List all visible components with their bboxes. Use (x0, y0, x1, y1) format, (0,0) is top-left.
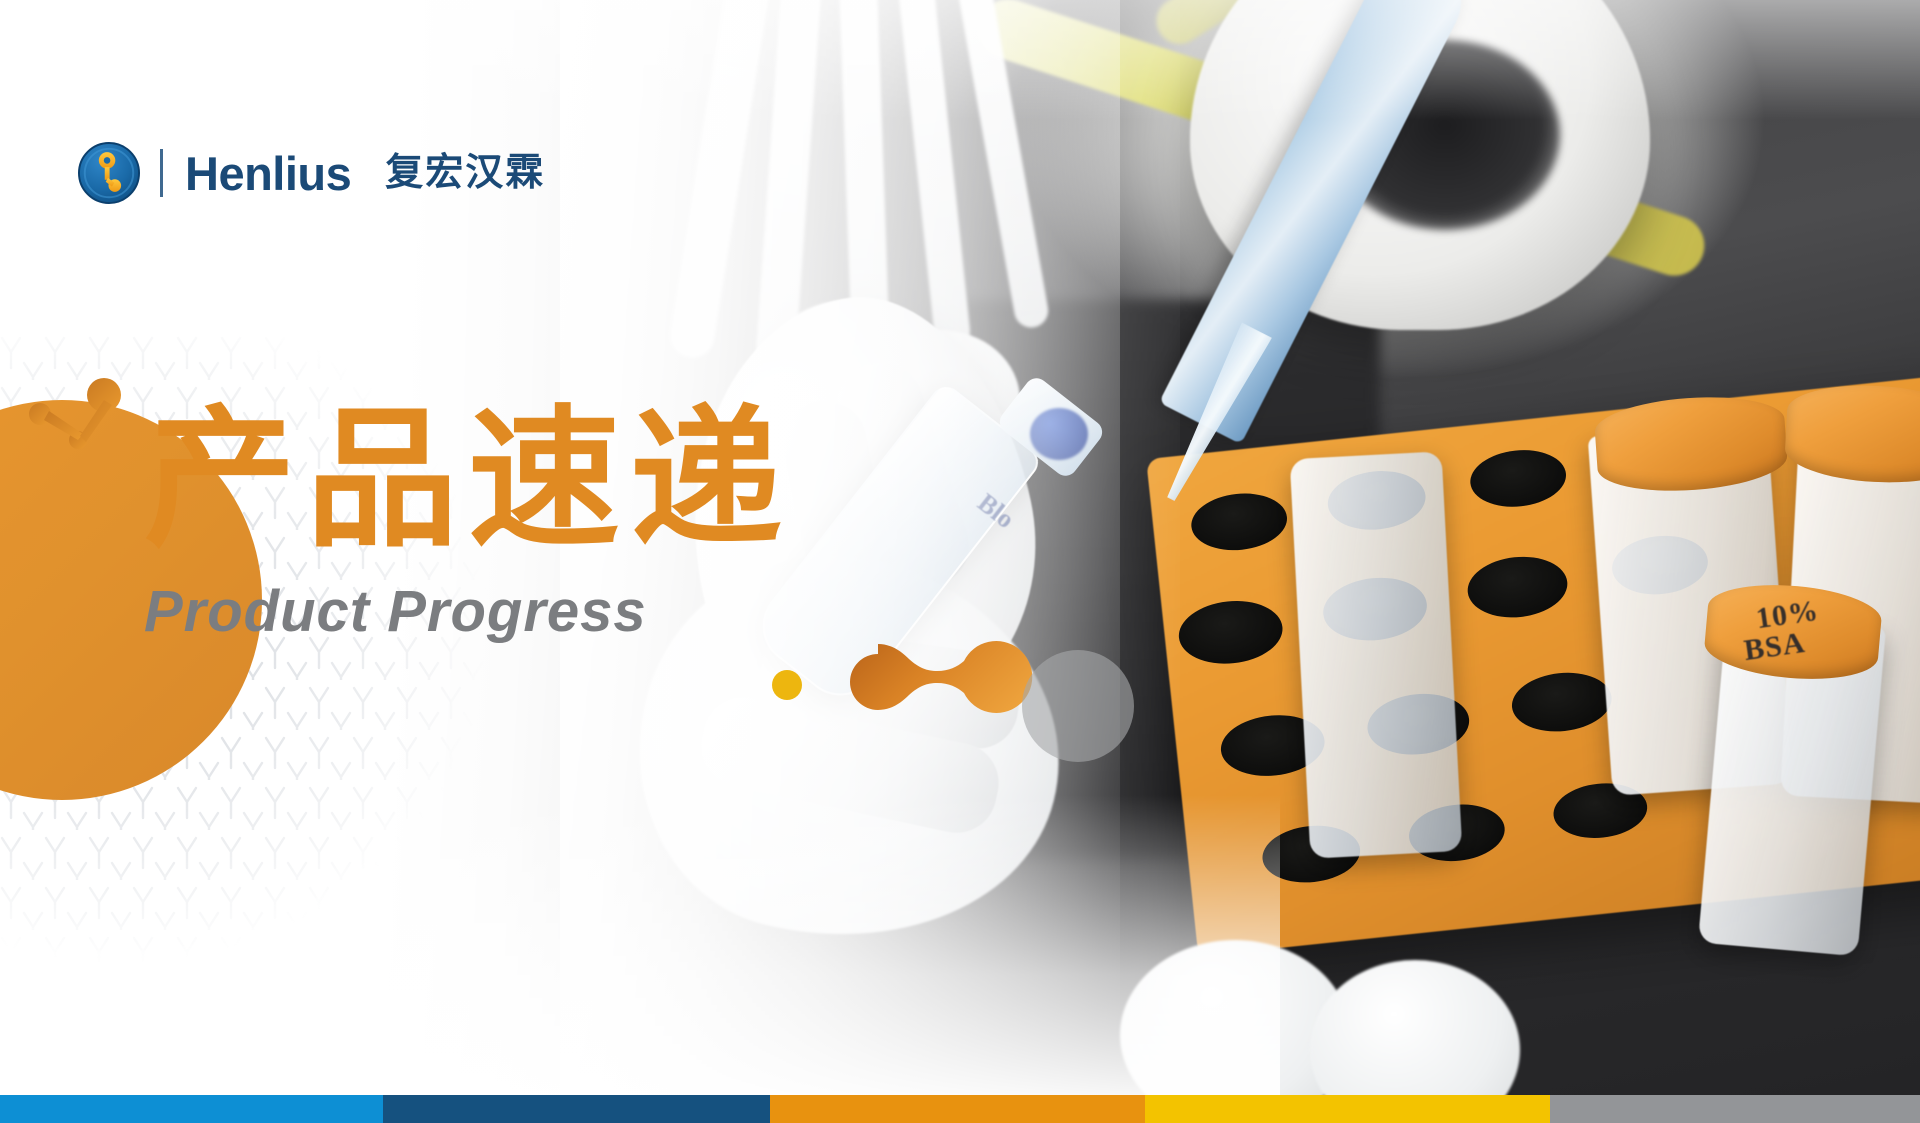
gray-circle-decor (1022, 650, 1134, 762)
specimen-vial-3-clear (1290, 451, 1463, 858)
henlius-molecule-badge-icon (78, 142, 140, 204)
title-slide: Blo 10% BSA (0, 0, 1920, 1123)
bar-segment-gray (1550, 1095, 1920, 1123)
bottom-color-bar (0, 1095, 1920, 1123)
page-title-chinese: 产品速递 (144, 398, 792, 562)
logo-chinese-name: 复宏汉霖 (385, 154, 545, 192)
logo-wordmark: Henlius (185, 150, 351, 197)
molecule-link-icon (28, 378, 138, 456)
bar-segment-orange (770, 1095, 1145, 1123)
gold-dot-decor (772, 670, 802, 700)
molecule-metaball-icon (848, 640, 1038, 732)
logo-divider-icon (160, 149, 163, 197)
bar-segment-dark-blue (383, 1095, 770, 1123)
page-subtitle-english: Product Progress (144, 578, 792, 645)
bar-segment-light-blue (0, 1095, 383, 1123)
title-block: 产品速递 Product Progress (144, 398, 792, 645)
photo-fade-top (0, 0, 1920, 120)
henlius-logo[interactable]: Henlius 复宏汉霖 (78, 142, 545, 204)
bar-segment-yellow (1145, 1095, 1550, 1123)
